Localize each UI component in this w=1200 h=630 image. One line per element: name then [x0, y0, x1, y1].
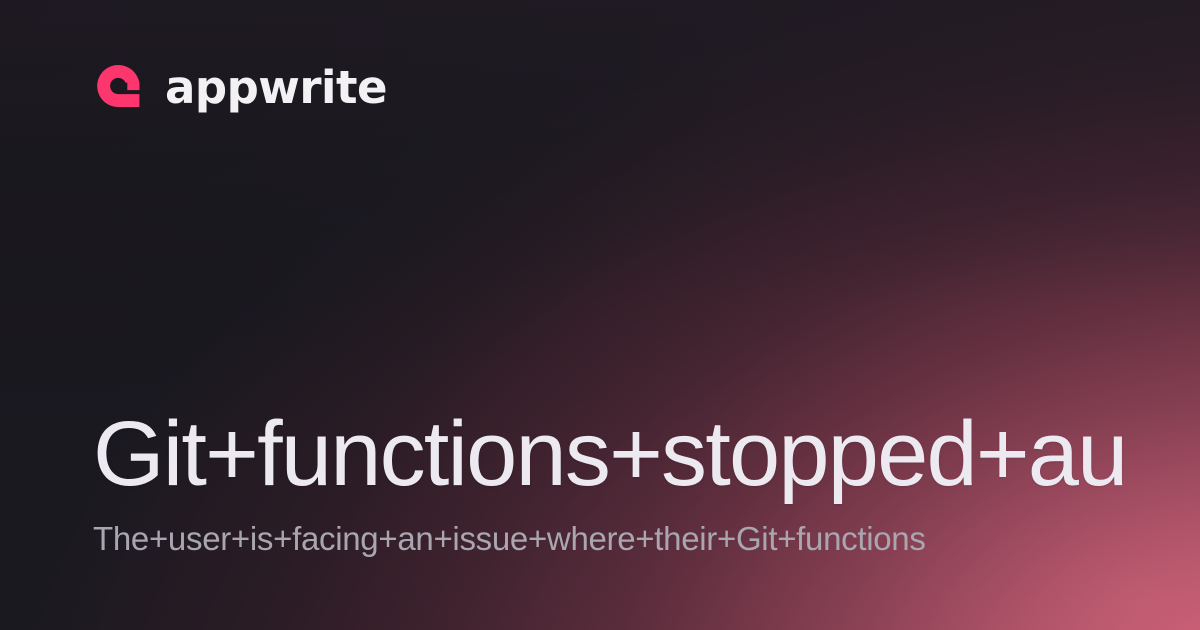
open-graph-card: appwrite Git+functions+stopped+au The+us…: [0, 0, 1200, 630]
card-content: appwrite Git+functions+stopped+au The+us…: [0, 0, 1200, 630]
brand-lockup: appwrite: [93, 58, 387, 114]
page-subtitle: The+user+is+facing+an+issue+where+their+…: [93, 518, 1200, 560]
headline-block: Git+functions+stopped+au The+user+is+fac…: [93, 404, 1200, 560]
appwrite-wordmark: appwrite: [165, 65, 387, 110]
page-title: Git+functions+stopped+au: [93, 404, 1200, 504]
appwrite-logo-icon: [93, 61, 143, 111]
